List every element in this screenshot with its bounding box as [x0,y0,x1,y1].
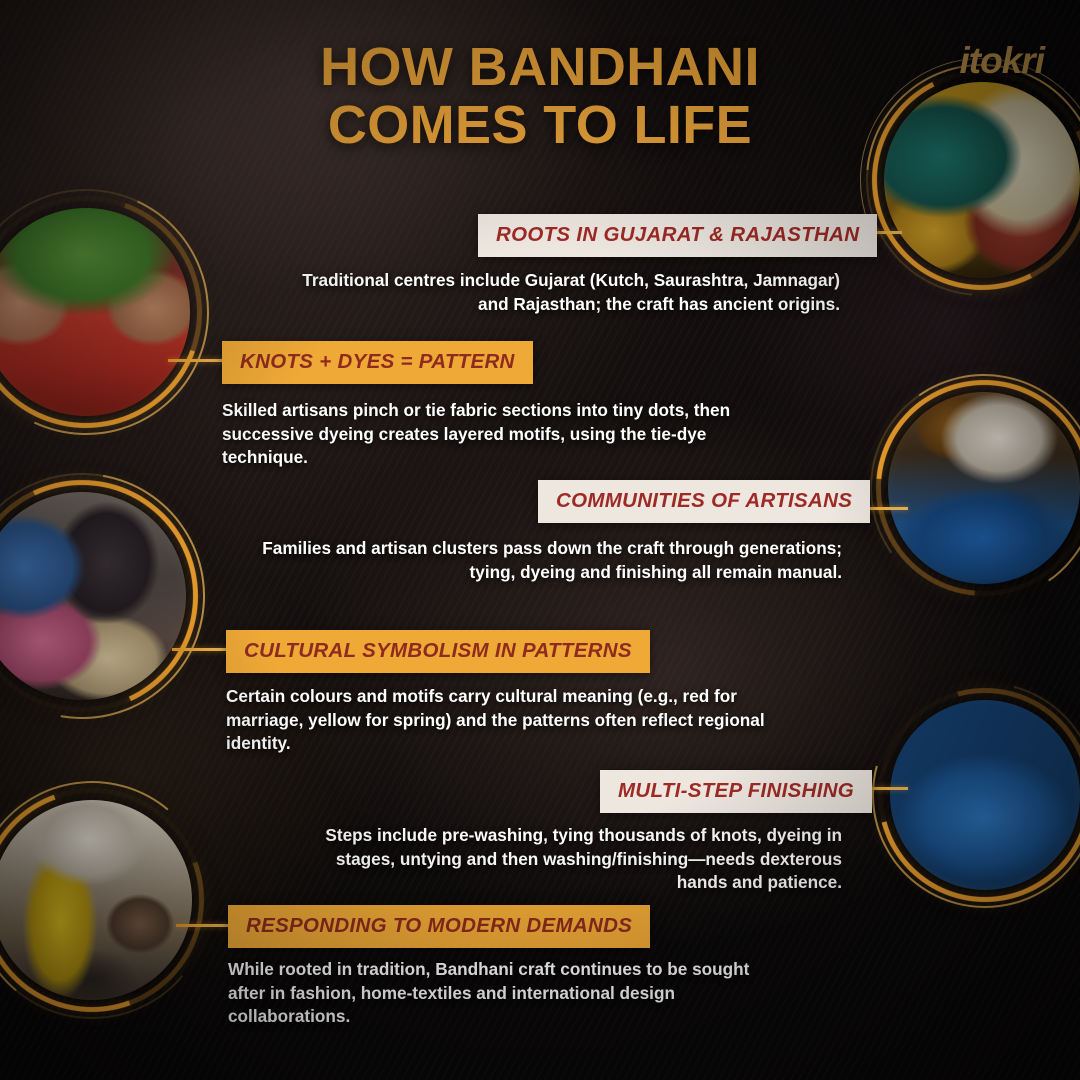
connector-symbolism [172,648,228,651]
section-body-modern-demands: While rooted in tradition, Bandhani craf… [228,958,780,1029]
connector-modern [176,924,230,927]
photo-red-fabric-hands-image [0,208,190,416]
section-body-finishing: Steps include pre-washing, tying thousan… [318,824,842,895]
photo-yellow-dyeing-image [0,800,192,1000]
page-title-line1: HOW BANDHANI [320,37,760,97]
connector-knots [168,359,226,362]
section-heading-modern-demands: RESPONDING TO MODERN DEMANDS [228,905,650,948]
section-heading-symbolism: CULTURAL SYMBOLISM IN PATTERNS [226,630,650,673]
photo-yellow-dyeing [0,800,192,1000]
photo-dyer-at-vat [888,392,1080,584]
section-body-communities: Families and artisan clusters pass down … [240,537,842,584]
photo-dyer-at-vat-image [888,392,1080,584]
page-title-line2: COMES TO LIFE [0,96,1080,154]
photo-woman-tying-image [0,492,186,700]
section-body-knots-dyes: Skilled artisans pinch or tie fabric sec… [222,399,750,470]
photo-woman-tying [0,492,186,700]
section-body-roots: Traditional centres include Gujarat (Kut… [280,269,840,316]
section-heading-finishing: MULTI-STEP FINISHING [600,770,872,813]
section-heading-communities: COMMUNITIES OF ARTISANS [538,480,870,523]
photo-blue-dye-vat [890,700,1080,890]
photo-blue-dye-vat-image [890,700,1080,890]
page-title: HOW BANDHANI COMES TO LIFE [0,38,1080,155]
infographic-poster: HOW BANDHANI COMES TO LIFE itokri ROOTS … [0,0,1080,1080]
brand-logo[interactable]: itokri [960,40,1044,82]
section-heading-knots-dyes: KNOTS + DYES = PATTERN [222,341,533,384]
photo-red-fabric-hands [0,208,190,416]
section-heading-roots: ROOTS IN GUJARAT & RAJASTHAN [478,214,877,257]
section-body-symbolism: Certain colours and motifs carry cultura… [226,685,766,756]
